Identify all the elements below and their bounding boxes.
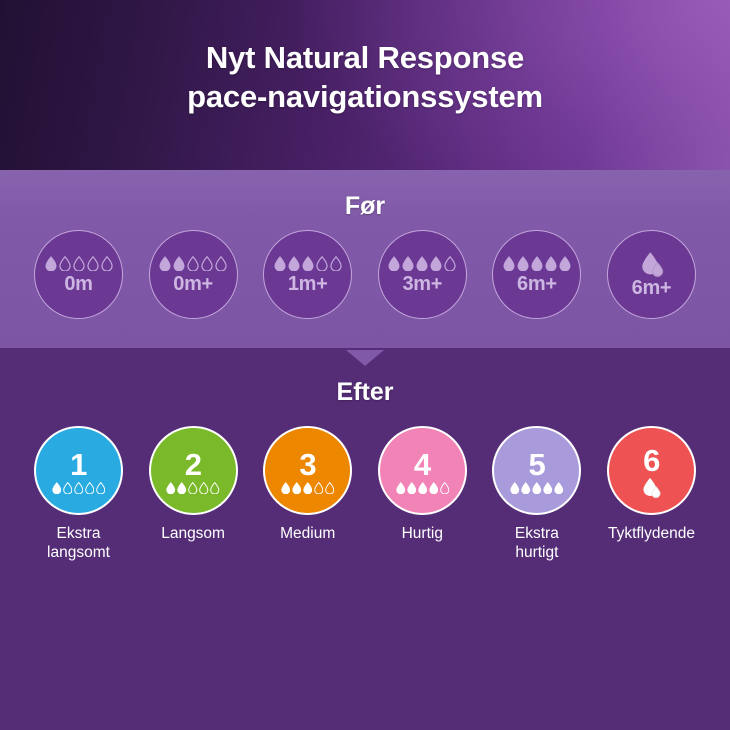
after-flow-label: Medium: [249, 524, 367, 543]
after-flow-label: Ekstra hurtigt: [478, 524, 596, 562]
drop-outline-icon: [74, 482, 84, 494]
drop-filled-icon: [303, 482, 313, 494]
after-item: 3Medium: [261, 426, 354, 543]
header-banner: Nyt Natural Response pace-navigationssys…: [0, 0, 730, 170]
after-section-title: Efter: [0, 378, 730, 407]
after-drops-icon-group: [396, 481, 450, 495]
drop-filled-icon: [543, 482, 553, 494]
drop-filled-icon: [177, 482, 187, 494]
drop-filled-icon: [554, 482, 564, 494]
drop-filled-icon: [430, 256, 442, 271]
before-item: 6m+: [605, 230, 698, 319]
before-drops-icon-group: [388, 255, 456, 272]
before-age-label: 6m+: [517, 273, 557, 295]
drop-filled-icon: [281, 482, 291, 494]
drop-outline-icon: [330, 256, 342, 271]
before-flow-circle[interactable]: 3m+: [378, 230, 467, 319]
after-flow-label: Tyktflydende: [592, 524, 710, 543]
page-title-line-1: Nyt Natural Response: [0, 38, 730, 77]
drop-filled-icon: [288, 256, 300, 271]
drop-filled-icon: [173, 256, 185, 271]
drop-outline-icon: [188, 482, 198, 494]
page-title-line-2: pace-navigationssystem: [0, 77, 730, 116]
drop-filled-icon: [503, 256, 515, 271]
drop-outline-icon: [440, 482, 450, 494]
before-items-row: 0m0m+1m+3m+6m+6m+: [32, 230, 698, 319]
after-items-row: 1Ekstra langsomt2Langsom3Medium4Hurtig5E…: [32, 426, 698, 562]
before-flow-circle[interactable]: 0m+: [149, 230, 238, 319]
after-item: 5Ekstra hurtigt: [490, 426, 583, 562]
after-flow-label: Ekstra langsomt: [20, 524, 138, 562]
drop-outline-icon: [87, 256, 99, 271]
drop-filled-icon: [531, 256, 543, 271]
after-item: 6Tyktflydende: [605, 426, 698, 543]
drop-filled-icon: [302, 256, 314, 271]
drop-outline-icon: [325, 482, 335, 494]
after-drops-icon-group: [510, 481, 564, 495]
drop-filled-icon: [52, 482, 62, 494]
drop-filled-icon: [521, 482, 531, 494]
drop-filled-icon: [416, 256, 428, 271]
drop-filled-icon: [429, 482, 439, 494]
drop-filled-icon: [532, 482, 542, 494]
after-flow-number: 5: [529, 449, 546, 480]
after-flow-label: Hurtig: [363, 524, 481, 543]
drop-filled-icon: [45, 256, 57, 271]
drop-outline-icon: [201, 256, 213, 271]
after-flow-circle[interactable]: 1: [34, 426, 123, 515]
drop-outline-icon: [316, 256, 328, 271]
arrow-down-icon: [346, 350, 384, 366]
before-age-label: 0m: [64, 273, 92, 295]
after-flow-number: 6: [643, 445, 660, 476]
before-age-label: 6m+: [632, 277, 672, 299]
after-thick-flow-icon-group: [640, 477, 662, 499]
drop-outline-icon: [73, 256, 85, 271]
drop-filled-icon: [517, 256, 529, 271]
after-flow-circle[interactable]: 5: [492, 426, 581, 515]
before-item: 3m+: [376, 230, 469, 319]
drop-filled-icon: [559, 256, 571, 271]
before-age-label: 3m+: [402, 273, 442, 295]
drop-filled-icon: [292, 482, 302, 494]
before-drops-icon-group: [274, 255, 342, 272]
drop-outline-icon: [101, 256, 113, 271]
drop-filled-icon: [407, 482, 417, 494]
drop-filled-icon: [418, 482, 428, 494]
infographic-canvas: Nyt Natural Response pace-navigationssys…: [0, 0, 730, 730]
before-drops-icon-group: [45, 255, 113, 272]
before-section-title: Før: [0, 192, 730, 221]
before-flow-circle[interactable]: 1m+: [263, 230, 352, 319]
after-item: 2Langsom: [147, 426, 240, 543]
drop-outline-icon: [314, 482, 324, 494]
before-item: 1m+: [261, 230, 354, 319]
drop-filled-icon: [274, 256, 286, 271]
before-drops-icon-group: [159, 255, 227, 272]
before-flow-circle[interactable]: 6m+: [607, 230, 696, 319]
drop-filled-icon: [545, 256, 557, 271]
drop-outline-icon: [96, 482, 106, 494]
after-flow-label: Langsom: [134, 524, 252, 543]
after-item: 4Hurtig: [376, 426, 469, 543]
page-title: Nyt Natural Response pace-navigationssys…: [0, 38, 730, 116]
after-flow-number: 1: [70, 449, 87, 480]
drop-outline-icon: [210, 482, 220, 494]
after-flow-circle[interactable]: 6: [607, 426, 696, 515]
before-item: 0m+: [147, 230, 240, 319]
after-flow-number: 2: [185, 449, 202, 480]
drop-outline-icon: [444, 256, 456, 271]
before-age-label: 0m+: [173, 273, 213, 295]
drop-filled-icon: [159, 256, 171, 271]
drop-outline-icon: [215, 256, 227, 271]
before-flow-circle[interactable]: 0m: [34, 230, 123, 319]
after-flow-circle[interactable]: 2: [149, 426, 238, 515]
after-flow-number: 3: [299, 449, 316, 480]
thick-flow-icon: [638, 251, 665, 277]
after-flow-number: 4: [414, 449, 431, 480]
before-item: 6m+: [490, 230, 583, 319]
drop-filled-icon: [388, 256, 400, 271]
drop-filled-icon: [510, 482, 520, 494]
drop-outline-icon: [187, 256, 199, 271]
before-thick-flow-icon-group: [638, 251, 665, 277]
after-item: 1Ekstra langsomt: [32, 426, 125, 562]
thick-flow-icon: [640, 477, 662, 498]
before-drops-icon-group: [503, 255, 571, 272]
after-flow-circle[interactable]: 4: [378, 426, 467, 515]
before-age-label: 1m+: [288, 273, 328, 295]
drop-outline-icon: [199, 482, 209, 494]
before-item: 0m: [32, 230, 125, 319]
drop-filled-icon: [402, 256, 414, 271]
after-drops-icon-group: [281, 481, 335, 495]
before-section: Før 0m0m+1m+3m+6m+6m+: [0, 170, 730, 348]
drop-outline-icon: [63, 482, 73, 494]
after-flow-circle[interactable]: 3: [263, 426, 352, 515]
drop-outline-icon: [59, 256, 71, 271]
drop-outline-icon: [85, 482, 95, 494]
drop-filled-icon: [396, 482, 406, 494]
drop-filled-icon: [166, 482, 176, 494]
before-flow-circle[interactable]: 6m+: [492, 230, 581, 319]
after-drops-icon-group: [166, 481, 220, 495]
after-drops-icon-group: [52, 481, 106, 495]
after-section: Efter 1Ekstra langsomt2Langsom3Medium4Hu…: [0, 348, 730, 730]
